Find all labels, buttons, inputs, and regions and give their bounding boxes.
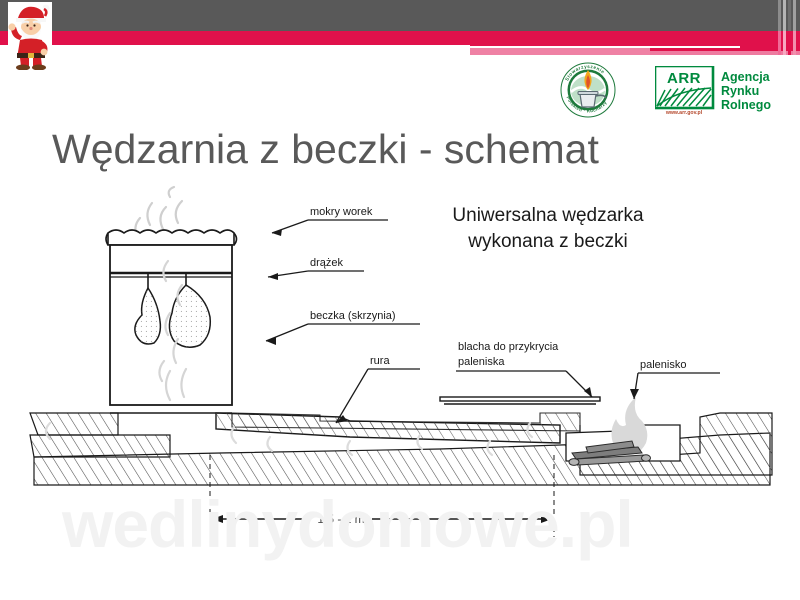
label-mokry-worek: mokry worek [310,206,373,218]
header-pink-stripe-3 [788,31,791,55]
svg-text:Agencja: Agencja [721,70,771,84]
label-blacha-line1: blacha do przykrycia [458,341,559,353]
header-pink-stripe-2 [783,31,786,55]
header-pink-stripe-4 [793,31,796,55]
header-gray-band [0,0,800,31]
page-title: Wędzarnia z beczki - schemat [52,126,599,173]
leader-rura [336,369,420,423]
leader-drazek [268,271,364,280]
ground-left-terrace [30,413,118,435]
pskp-logo-icon[interactable]: Stowarzyszenie Polskich · Kucharzy [560,62,616,118]
dimension-label: 1,5 - 2 m [317,512,364,526]
arr-logo-icon[interactable]: ARR www.arr.gov.pl Agencja Rynku Rolnego [655,66,795,116]
header-banner [0,0,800,60]
leader-beczka [266,324,420,345]
wet-sack-shape [108,230,234,245]
svg-text:ARR: ARR [667,70,701,87]
smoke-wisps-top [135,187,182,237]
slide-canvas: Stowarzyszenie Polskich · Kucharzy ARR [0,0,800,600]
label-blacha-line2: paleniska [458,356,505,368]
leader-blacha [456,371,592,397]
svg-text:Rolnego: Rolnego [721,98,771,112]
smokehouse-diagram: mokry worek drążek beczka (skrzynia) [20,185,780,565]
diagram-heading-line1: Uniwersalna wędzarka [452,205,644,226]
header-white-divider [470,46,740,48]
header-crimson-band [0,31,800,45]
label-rura: rura [370,355,390,367]
leader-mokry-worek [272,220,388,236]
header-pink-short-band [470,47,650,55]
leader-palenisko [630,373,720,399]
ground-left-lower [30,435,170,457]
label-drazek: drążek [310,257,344,269]
santa-claus-icon [4,2,56,70]
diagram-heading-line2: wykonana z beczki [467,231,627,252]
svg-text:www.arr.gov.pl: www.arr.gov.pl [665,110,703,116]
svg-text:Rynku: Rynku [721,84,759,98]
label-beczka: beczka (skrzynia) [310,310,396,322]
cover-plate-blacha [440,397,600,401]
logo-group: Stowarzyszenie Polskich · Kucharzy ARR [560,62,792,120]
label-palenisko: palenisko [640,359,686,371]
header-pink-stripe-1 [778,31,781,55]
